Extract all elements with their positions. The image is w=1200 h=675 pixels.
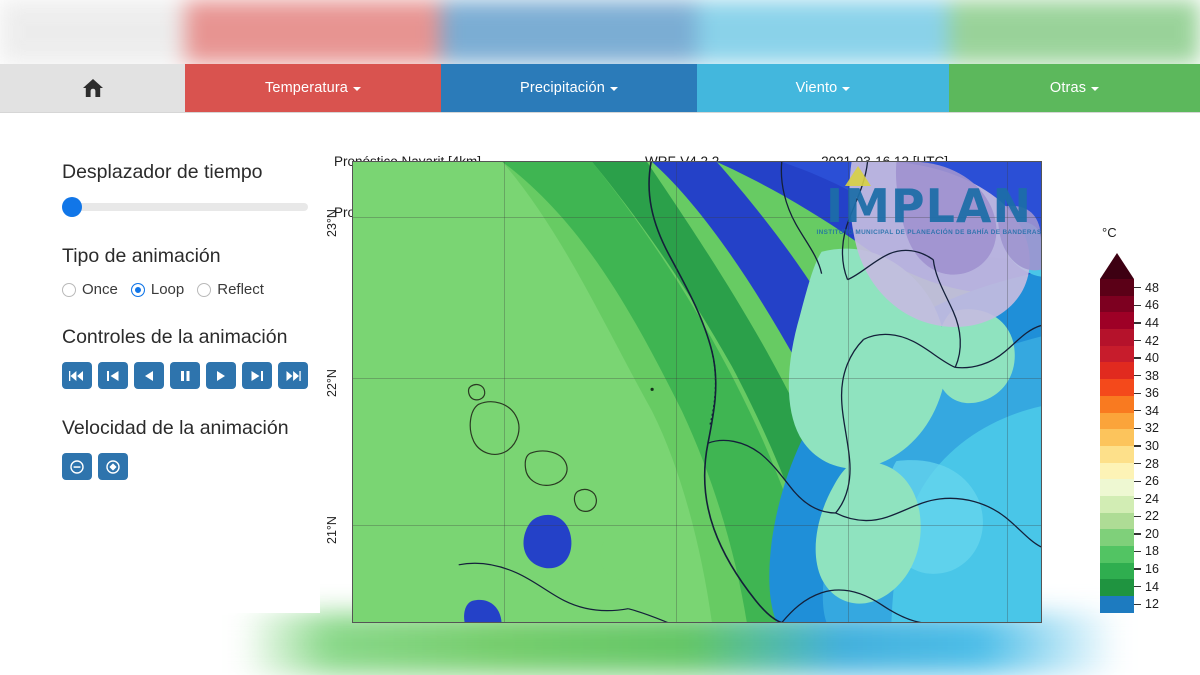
animation-controls-title: Controles de la animación	[62, 326, 320, 349]
colorbar-tick-mark	[1134, 393, 1141, 394]
colorbar-tick-label: 16	[1145, 562, 1159, 576]
colorbar-segment	[1100, 546, 1134, 563]
increase-speed-button[interactable]	[98, 453, 128, 480]
colorbar-segment	[1100, 529, 1134, 546]
animation-type-block: Tipo de animación Once Loop Reflect	[62, 245, 320, 298]
colorbar-tick-mark	[1134, 604, 1141, 605]
time-slider-handle[interactable]	[62, 197, 82, 217]
colorbar-segment	[1100, 329, 1134, 346]
colorbar-tick-label: 36	[1145, 386, 1159, 400]
radio-option-once[interactable]: Once	[62, 281, 118, 298]
pause-button[interactable]	[170, 362, 200, 389]
colorbar-segment	[1100, 312, 1134, 329]
increase-speed-icon	[106, 460, 120, 474]
home-icon	[82, 78, 104, 98]
colorbar-segment	[1100, 413, 1134, 430]
colorbar-tick-label: 22	[1145, 509, 1159, 523]
time-slider[interactable]	[62, 197, 308, 217]
radio-option-loop[interactable]: Loop	[131, 281, 184, 298]
colorbar-tick-16: 16	[1134, 562, 1159, 576]
colorbar-tick-mark	[1134, 568, 1141, 569]
forecast-map: Pronóstico Nayarit [4km] Pronóstico a 0 …	[320, 113, 1100, 623]
colorbar-tick-42: 42	[1134, 334, 1159, 348]
fast-forward-to-end-icon	[285, 370, 301, 382]
radio-dot-reflect[interactable]	[197, 283, 211, 297]
radio-label-loop: Loop	[151, 281, 184, 298]
time-slider-track[interactable]	[62, 203, 308, 211]
nav-item-viento[interactable]: Viento	[697, 64, 949, 112]
colorbar-tick-mark	[1134, 357, 1141, 358]
colorbar-segment	[1100, 446, 1134, 463]
colorbar-tick-46: 46	[1134, 298, 1159, 312]
animation-controls-block: Controles de la animación	[62, 326, 320, 389]
colorbar-segment	[1100, 279, 1134, 296]
colorbar-tick-mark	[1134, 428, 1141, 429]
colorbar-tick-mark	[1134, 586, 1141, 587]
chevron-down-icon	[610, 87, 618, 91]
colorbar-tick-12: 12	[1134, 597, 1159, 611]
colorbar-segment	[1100, 479, 1134, 496]
colorbar-tick-38: 38	[1134, 369, 1159, 383]
colorbar-tick-30: 30	[1134, 439, 1159, 453]
colorbar-tick-mark	[1134, 410, 1141, 411]
radio-dot-once[interactable]	[62, 283, 76, 297]
step-to-end-icon	[250, 370, 264, 382]
colorbar-segment	[1100, 496, 1134, 513]
colorbar-tick-mark	[1134, 305, 1141, 306]
time-slider-title: Desplazador de tiempo	[62, 161, 320, 184]
colorbar-tick-label: 44	[1145, 316, 1159, 330]
colorbar-tick-44: 44	[1134, 316, 1159, 330]
nav-label-viento: Viento	[796, 80, 838, 96]
colorbar-tick-mark	[1134, 516, 1141, 517]
temperature-colorbar: °C 4846444240383634323028262422201816141…	[1100, 113, 1200, 623]
colorbar-tick-40: 40	[1134, 351, 1159, 365]
colorbar-segment	[1100, 596, 1134, 613]
nav-item-temperatura[interactable]: Temperatura	[185, 64, 441, 112]
nav-label-precipitacion: Precipitación	[520, 80, 605, 96]
colorbar-tick-label: 42	[1145, 334, 1159, 348]
map-header-right: 2021-03-16 12 [UTC] 2021-03-16 06 [CDT]	[821, 119, 948, 161]
colorbar-segment	[1100, 579, 1134, 596]
colorbar-tick-48: 48	[1134, 281, 1159, 295]
animation-speed-title: Velocidad de la animación	[62, 417, 320, 440]
nav-label-otras: Otras	[1050, 80, 1086, 96]
weather-forecast-app: Temperatura Precipitación Viento Otras D…	[0, 0, 1200, 675]
colorbar-tick-36: 36	[1134, 386, 1159, 400]
latitude-axis: 23°N 22°N 21°N	[320, 161, 352, 619]
colorbar-tick-mark	[1134, 322, 1141, 323]
colorbar-tick-mark	[1134, 375, 1141, 376]
nav-label-temperatura: Temperatura	[265, 80, 348, 96]
animation-controls-row	[62, 362, 320, 389]
colorbar-segment	[1100, 563, 1134, 580]
play-backward-icon	[143, 370, 155, 382]
radio-label-once: Once	[82, 281, 118, 298]
step-to-end-button[interactable]	[242, 362, 272, 389]
colorbar-unit-label: °C	[1102, 225, 1117, 240]
blurred-top-band	[0, 0, 1200, 64]
colorbar-tick-mark	[1134, 463, 1141, 464]
animation-type-radio-group: Once Loop Reflect	[62, 281, 320, 298]
colorbar-segment	[1100, 513, 1134, 530]
rewind-to-start-icon	[69, 370, 85, 382]
colorbar-tick-label: 32	[1145, 421, 1159, 435]
pause-icon	[179, 370, 191, 382]
colorbar-tick-label: 30	[1145, 439, 1159, 453]
step-to-start-button[interactable]	[98, 362, 128, 389]
colorbar-tick-18: 18	[1134, 544, 1159, 558]
colorbar-tick-label: 46	[1145, 298, 1159, 312]
play-backward-button[interactable]	[134, 362, 164, 389]
play-forward-button[interactable]	[206, 362, 236, 389]
colorbar-segment	[1100, 346, 1134, 363]
colorbar-ticks: 48464442403836343230282624222018161412	[1134, 279, 1194, 613]
colorbar-tick-mark	[1134, 481, 1141, 482]
main-navbar: Temperatura Precipitación Viento Otras	[0, 64, 1200, 113]
animation-type-title: Tipo de animación	[62, 245, 320, 268]
colorbar-segment	[1100, 429, 1134, 446]
colorbar-tick-label: 28	[1145, 457, 1159, 471]
colorbar-segment	[1100, 296, 1134, 313]
colorbar-tick-label: 14	[1145, 580, 1159, 594]
colorbar-tick-label: 48	[1145, 281, 1159, 295]
colorbar-segment	[1100, 362, 1134, 379]
chevron-down-icon	[842, 87, 850, 91]
colorbar-tick-label: 24	[1145, 492, 1159, 506]
radio-dot-loop[interactable]	[131, 283, 145, 297]
colorbar-tick-22: 22	[1134, 509, 1159, 523]
colorbar-tick-mark	[1134, 340, 1141, 341]
colorbar-tick-26: 26	[1134, 474, 1159, 488]
colorbar-tick-mark	[1134, 287, 1141, 288]
colorbar-tick-label: 26	[1145, 474, 1159, 488]
decrease-speed-button[interactable]	[62, 453, 92, 480]
colorbar-tick-mark	[1134, 551, 1141, 552]
colorbar-tick-34: 34	[1134, 404, 1159, 418]
home-button[interactable]	[0, 64, 185, 112]
animation-speed-block: Velocidad de la animación	[62, 417, 320, 480]
play-forward-icon	[215, 370, 227, 382]
colorbar-tick-mark	[1134, 445, 1141, 446]
colorbar-tick-32: 32	[1134, 421, 1159, 435]
colorbar-tick-label: 40	[1145, 351, 1159, 365]
map-header-left: Pronóstico Nayarit [4km] Pronóstico a 0 …	[334, 119, 481, 161]
colorbar-segment	[1100, 396, 1134, 413]
chevron-down-icon	[1091, 87, 1099, 91]
colorbar-tick-label: 18	[1145, 544, 1159, 558]
radio-option-reflect[interactable]: Reflect	[197, 281, 264, 298]
colorbar-segment	[1100, 379, 1134, 396]
colorbar-tick-label: 34	[1145, 404, 1159, 418]
rewind-to-start-button[interactable]	[62, 362, 92, 389]
colorbar-tick-label: 38	[1145, 369, 1159, 383]
colorbar-tick-28: 28	[1134, 457, 1159, 471]
colorbar-tick-mark	[1134, 533, 1141, 534]
step-to-start-icon	[106, 370, 120, 382]
colorbar-tick-24: 24	[1134, 492, 1159, 506]
colorbar-tick-mark	[1134, 498, 1141, 499]
map-canvas[interactable]: IMPLAN INSTITUTO MUNICIPAL DE PLANEACIÓN…	[352, 161, 1042, 623]
colorbar-tick-20: 20	[1134, 527, 1159, 541]
chevron-down-icon	[353, 87, 361, 91]
map-header-center: WRF-V4.2.2 Temperatura a 2m	[627, 119, 737, 161]
colorbar-tick-label: 12	[1145, 597, 1159, 611]
controls-sidebar: Desplazador de tiempo Tipo de animación …	[0, 113, 320, 613]
map-header: Pronóstico Nayarit [4km] Pronóstico a 0 …	[332, 119, 1032, 161]
colorbar-segment	[1100, 463, 1134, 480]
colorbar-tick-label: 20	[1145, 527, 1159, 541]
animation-speed-row	[62, 453, 320, 480]
fast-forward-to-end-button[interactable]	[278, 362, 308, 389]
decrease-speed-icon	[70, 460, 84, 474]
colorbar-arrow-cap	[1100, 253, 1134, 279]
colorbar-gradient	[1100, 279, 1134, 613]
nav-item-otras[interactable]: Otras	[949, 64, 1200, 112]
radio-label-reflect: Reflect	[217, 281, 264, 298]
temperature-contour-field	[353, 162, 1041, 623]
nav-item-precipitacion[interactable]: Precipitación	[441, 64, 697, 112]
colorbar-tick-14: 14	[1134, 580, 1159, 594]
time-slider-block: Desplazador de tiempo	[62, 161, 320, 217]
